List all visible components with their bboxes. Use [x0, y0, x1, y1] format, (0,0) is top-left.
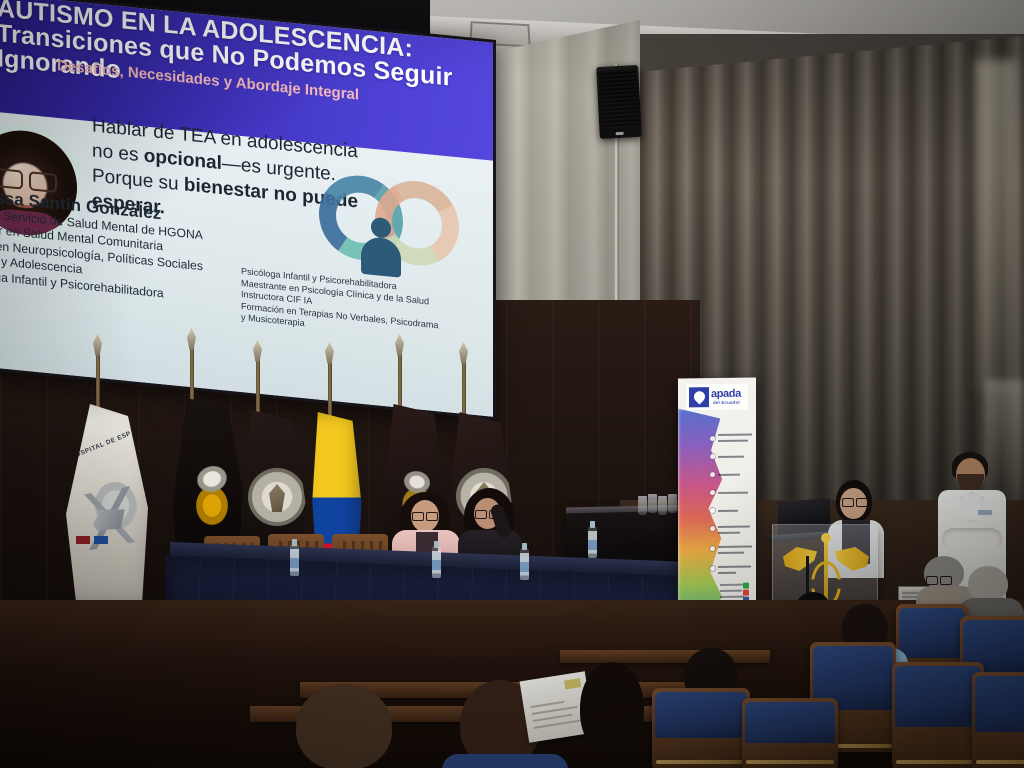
- banner-text-line: [718, 456, 744, 458]
- banner-text-line: [718, 526, 750, 528]
- seat-trim: [976, 760, 1024, 764]
- caduceus-orb: [821, 533, 831, 543]
- caduceus-wing-right: [835, 547, 869, 571]
- water-bottle: [520, 548, 529, 580]
- banner-text-line: [718, 572, 736, 574]
- banner-bullet-icon: [710, 472, 715, 477]
- audience-head: [580, 662, 644, 754]
- man-beard: [957, 474, 984, 491]
- glasses-icon: [842, 498, 868, 505]
- projection-screen: AUTISMO EN LA ADOLESCENCIA: Transiciones…: [0, 0, 496, 420]
- pa-speaker-icon: [596, 65, 642, 139]
- seat-trim: [746, 760, 834, 764]
- autism-infinity-icon: [319, 166, 469, 285]
- seat-cushion: [655, 692, 747, 738]
- seat-trim: [896, 760, 980, 764]
- flag-seal-bars: [76, 536, 116, 544]
- seat-trim: [656, 760, 746, 764]
- banner-contact-line: [720, 596, 744, 598]
- auditorium-seat: [652, 688, 750, 768]
- person-silhouette-icon: [361, 216, 401, 278]
- curtain-highlight: [975, 60, 1017, 390]
- audience-head: [968, 566, 1008, 602]
- handout-text-line: [531, 701, 565, 708]
- audience-head: [296, 684, 392, 768]
- auditorium-seat: [892, 662, 984, 768]
- silhouette-head: [371, 217, 391, 239]
- glasses-icon: [412, 512, 438, 519]
- banner-text-line: [718, 552, 744, 554]
- banner-text-line: [718, 566, 751, 568]
- auditorium-photo: AUTISMO EN LA ADOLESCENCIA: Transiciones…: [0, 0, 1024, 768]
- whatsapp-icon: [743, 583, 749, 589]
- banner-logo-mark-icon: [689, 387, 709, 407]
- auditorium-seat: [742, 698, 838, 768]
- caduceus-wing-left: [783, 547, 817, 571]
- seat-cushion: [975, 676, 1024, 732]
- rollup-banner: apada del Ecuador: [678, 377, 756, 618]
- water-bottle: [588, 526, 597, 558]
- seat-cushion: [899, 608, 965, 658]
- banner-logo-subtext: del Ecuador: [713, 400, 740, 405]
- glasses-icon: [926, 576, 952, 583]
- banner-bullet-icon: [710, 526, 715, 531]
- banner-text-line: [718, 546, 752, 548]
- banner-bullet-icon: [710, 508, 715, 513]
- slide-surface: AUTISMO EN LA ADOLESCENCIA: Transiciones…: [0, 0, 493, 417]
- water-glass: [668, 494, 677, 513]
- seat-cushion: [745, 702, 835, 743]
- water-bottle: [432, 546, 441, 578]
- banner-text-line: [718, 474, 740, 476]
- flag-crest-gold-icon: [184, 460, 240, 536]
- lab-coat-pocket-badge: [978, 510, 992, 515]
- audience-torso: [442, 754, 568, 768]
- banner-text-line: [718, 510, 738, 512]
- banner-bullet-icon: [710, 546, 715, 551]
- banner-text-line: [718, 440, 748, 442]
- mail-icon: [743, 590, 749, 596]
- banner-text-line: [718, 492, 748, 494]
- banner-text-line: [718, 434, 752, 436]
- banner-bullet-icon: [710, 490, 715, 495]
- banner-logo-text: apada: [711, 388, 741, 400]
- audience-member: [572, 662, 660, 768]
- crossed-arms: [942, 528, 1002, 550]
- water-bottle: [290, 544, 299, 576]
- banner-text-line: [718, 532, 740, 534]
- banner-bullet-icon: [710, 454, 715, 459]
- auditorium-seat: [972, 672, 1024, 768]
- flag-crest-circle-icon: [248, 468, 306, 526]
- banner-bullet-icon: [710, 566, 715, 571]
- silhouette-body: [361, 236, 401, 278]
- speaker-grille: [598, 69, 639, 129]
- water-glass: [638, 496, 647, 515]
- seat-cushion: [895, 666, 981, 727]
- speaker-led-icon: [616, 132, 624, 135]
- audience-member: [286, 684, 412, 768]
- banner-bullet-icon: [710, 436, 715, 441]
- banner-logo: apada del Ecuador: [686, 384, 748, 411]
- banner-contact-line: [720, 590, 742, 592]
- quote-bold-1: opcional: [144, 145, 222, 174]
- water-glass: [658, 496, 667, 515]
- water-glass: [648, 494, 657, 513]
- panelist-seated-2: [460, 488, 526, 562]
